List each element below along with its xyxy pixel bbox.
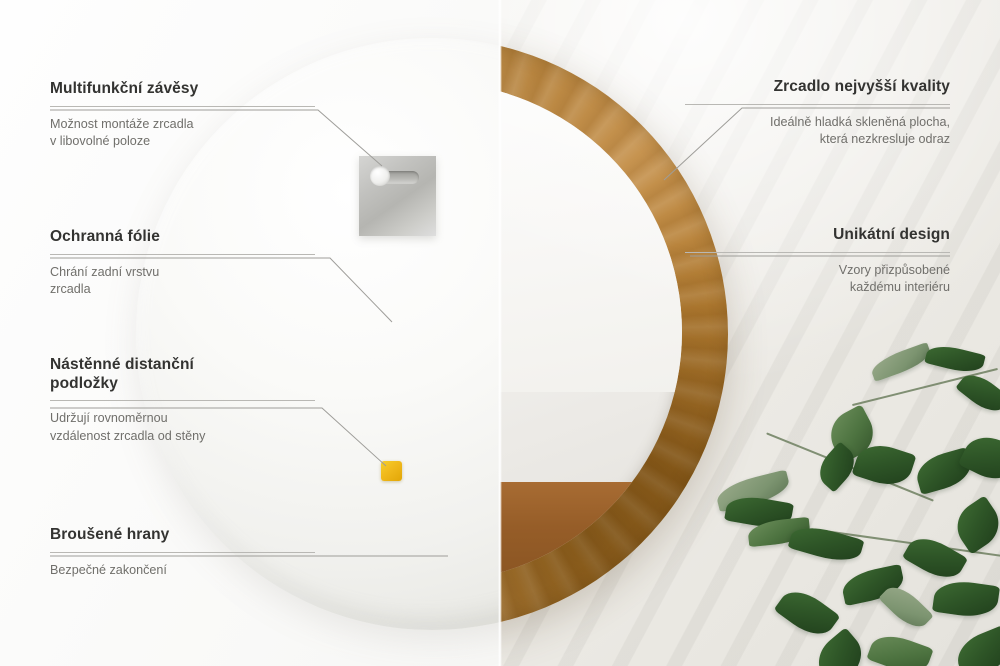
callout-body-line2: vzdálenost zrcadla od stěny [50,429,205,443]
callout-highest-quality-mirror: Zrcadlo nejvyšší kvality Ideálně hladká … [685,78,950,149]
callout-rule [50,552,315,553]
callout-unique-design: Unikátní design Vzory přizpůsobené každé… [685,226,950,297]
callout-body-line2: která nezkresluje odraz [820,132,950,146]
reflected-wooden-floor [500,482,682,582]
callout-body-line2: každému interiéru [850,280,950,294]
green-foliage [720,346,1000,666]
callout-rule [50,106,315,107]
callout-body-line1: Udržují rovnoměrnou [50,411,168,425]
reflected-wall [500,82,682,392]
hanging-bracket [359,156,436,236]
callout-protective-film: Ochranná fólie Chrání zadní vrstvu zrcad… [50,228,315,299]
callout-multifunctional-hangers: Multifunkční závěsy Možnost montáže zrca… [50,80,315,151]
callout-title: Zrcadlo nejvyšší kvality [685,78,950,97]
callout-body-line1: Ideálně hladká skleněná plocha, [770,115,950,129]
callout-body-line1: Chrání zadní vrstvu [50,265,159,279]
callout-title: Broušené hrany [50,526,315,545]
callout-title: Ochranná fólie [50,228,315,247]
wall-spacer-pad [381,461,402,481]
callout-body-line1: Vzory přizpůsobené [839,263,950,277]
callout-rule [685,252,950,253]
infographic-stage: Multifunkční závěsy Možnost montáže zrca… [0,0,1000,666]
bracket-keyhole-opening [370,166,390,186]
callout-title: Unikátní design [685,226,950,245]
callout-title-line2: podložky [50,375,118,392]
callout-wall-spacers: Nástěnné distanční podložky Udržují rovn… [50,356,315,446]
mirror-glass [500,82,682,582]
callout-title: Multifunkční závěsy [50,80,315,99]
callout-body-line1: Možnost montáže zrcadla [50,117,194,131]
callout-body-line2: zrcadla [50,282,91,296]
callout-polished-edges: Broušené hrany Bezpečné zakončení [50,526,315,579]
callout-rule [50,254,315,255]
callout-title-line1: Nástěnné distanční [50,356,194,373]
callout-body-line2: v libovolné poloze [50,134,150,148]
callout-body-line1: Bezpečné zakončení [50,562,315,580]
callout-rule [685,104,950,105]
callout-rule [50,400,315,401]
